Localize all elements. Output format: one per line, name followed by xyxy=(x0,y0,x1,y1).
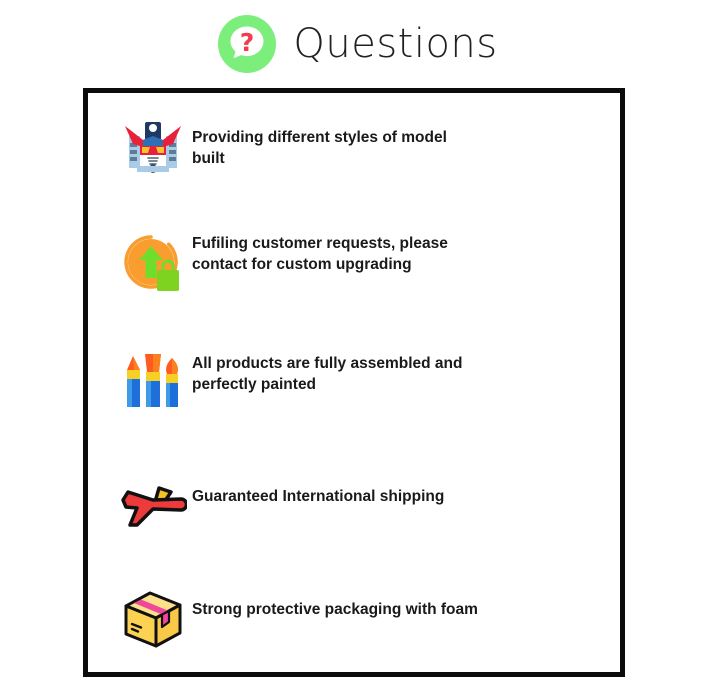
list-item: All products are fully assembled and per… xyxy=(118,349,588,419)
airplane-icon xyxy=(118,472,188,542)
list-item: Providing different styles of model buil… xyxy=(118,113,588,183)
list-item: Guaranteed International shipping xyxy=(118,472,588,542)
list-item-label: Guaranteed International shipping xyxy=(192,472,444,508)
page-header: ? Questions xyxy=(0,0,727,88)
questions-list: Providing different styles of model buil… xyxy=(88,93,620,672)
question-mark-speech-bubble-icon: ? xyxy=(217,14,277,74)
paint-brushes-icon xyxy=(118,349,188,419)
svg-text:?: ? xyxy=(240,28,255,57)
page-header-inner: ? Questions xyxy=(217,14,497,74)
list-item-label: Providing different styles of model buil… xyxy=(192,113,482,169)
list-item-label: Strong protective packaging with foam xyxy=(192,585,478,621)
list-item-label: All products are fully assembled and per… xyxy=(192,349,482,395)
list-item: Strong protective packaging with foam xyxy=(118,585,588,655)
list-item-label: Fufiling customer requests, please conta… xyxy=(192,229,482,275)
list-item: Fufiling customer requests, please conta… xyxy=(118,229,588,299)
page-title: Questions xyxy=(293,24,497,64)
upgrade-arrow-shopping-bag-icon xyxy=(118,229,188,299)
gundam-robot-head-icon xyxy=(118,113,188,183)
questions-panel: Providing different styles of model buil… xyxy=(83,88,625,677)
cardboard-box-icon xyxy=(118,585,188,655)
